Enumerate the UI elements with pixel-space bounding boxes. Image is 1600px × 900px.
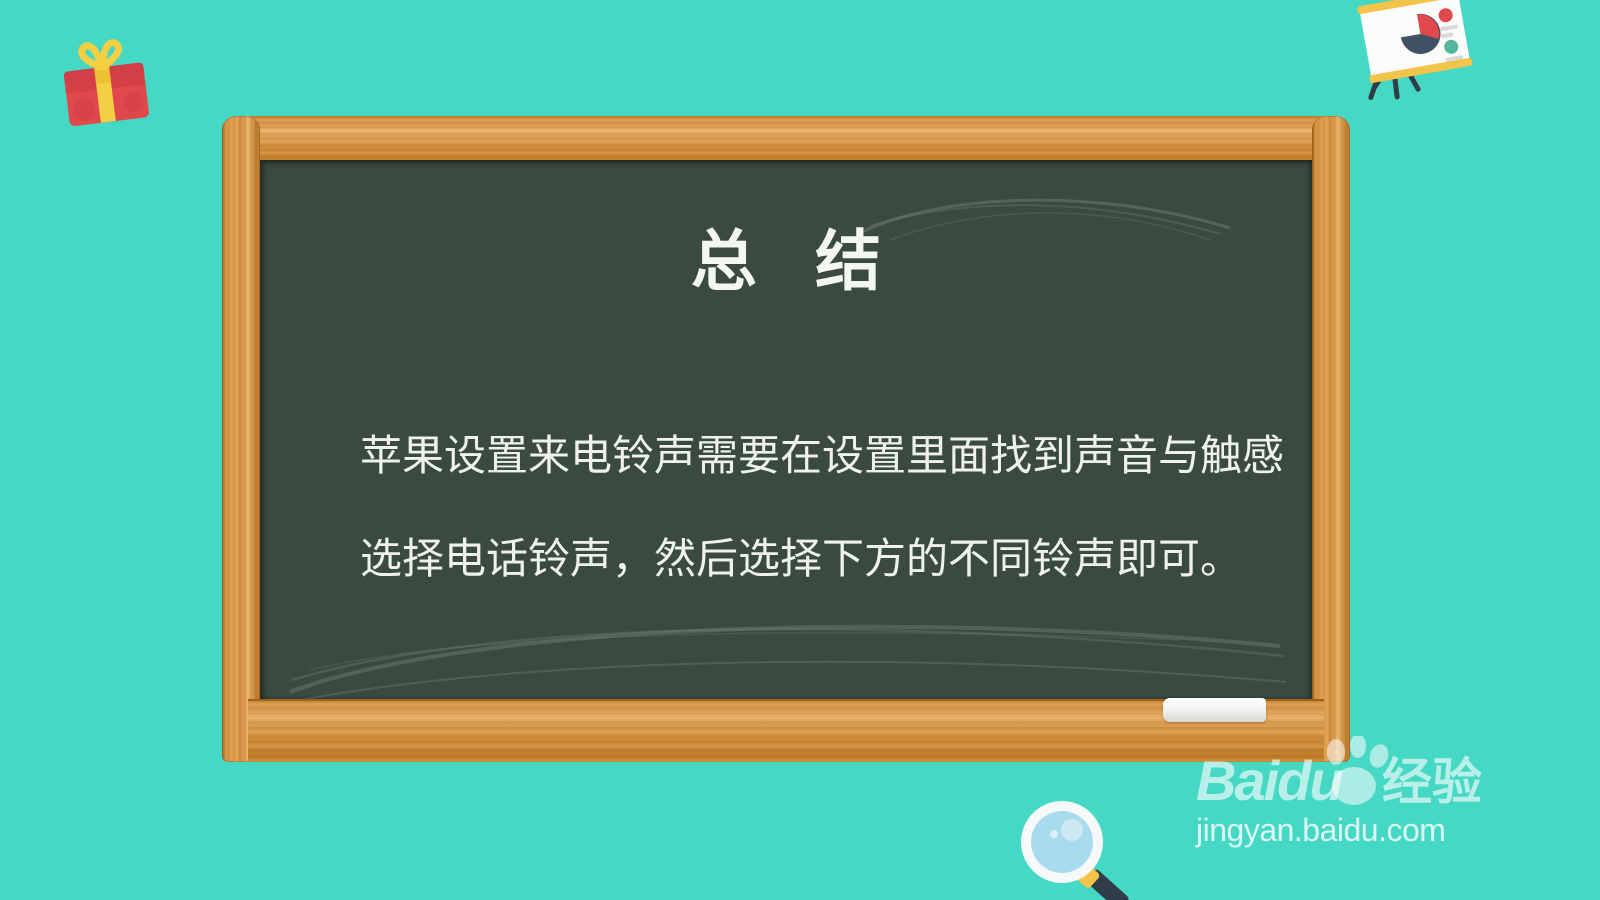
- watermark-logo-row: Baidu 经验: [1196, 752, 1496, 810]
- magnifying-glass-icon: [1010, 790, 1150, 900]
- chalk-stick: [1163, 698, 1266, 722]
- board-surface: 总 结 苹果设置来电铃声需要在设置里面找到声音与触感 选择电话铃声，然后选择下方…: [260, 160, 1312, 701]
- blackboard: 总 结 苹果设置来电铃声需要在设置里面找到声音与触感 选择电话铃声，然后选择下方…: [222, 116, 1350, 762]
- baidu-cn-label: 经验: [1382, 754, 1482, 810]
- summary-body: 苹果设置来电铃声需要在设置里面找到声音与触感 选择电话铃声，然后选择下方的不同铃…: [360, 404, 1230, 610]
- presentation-chart-icon: [1345, 0, 1475, 114]
- watermark-url: jingyan.baidu.com: [1196, 812, 1496, 849]
- summary-line-1: 苹果设置来电铃声需要在设置里面找到声音与触感: [360, 404, 1230, 507]
- frame-right-post: [1312, 116, 1350, 762]
- baidu-watermark: Baidu 经验 jingyan.baidu.com: [1196, 752, 1496, 849]
- page-title: 总 结: [260, 228, 1312, 294]
- frame-top-rail: [248, 116, 1324, 164]
- chalk-smudge-bottom: [280, 600, 1290, 701]
- frame-left-post: [222, 116, 260, 762]
- summary-line-2: 选择电话铃声，然后选择下方的不同铃声即可。: [360, 507, 1230, 610]
- gift-box-icon: [50, 29, 161, 135]
